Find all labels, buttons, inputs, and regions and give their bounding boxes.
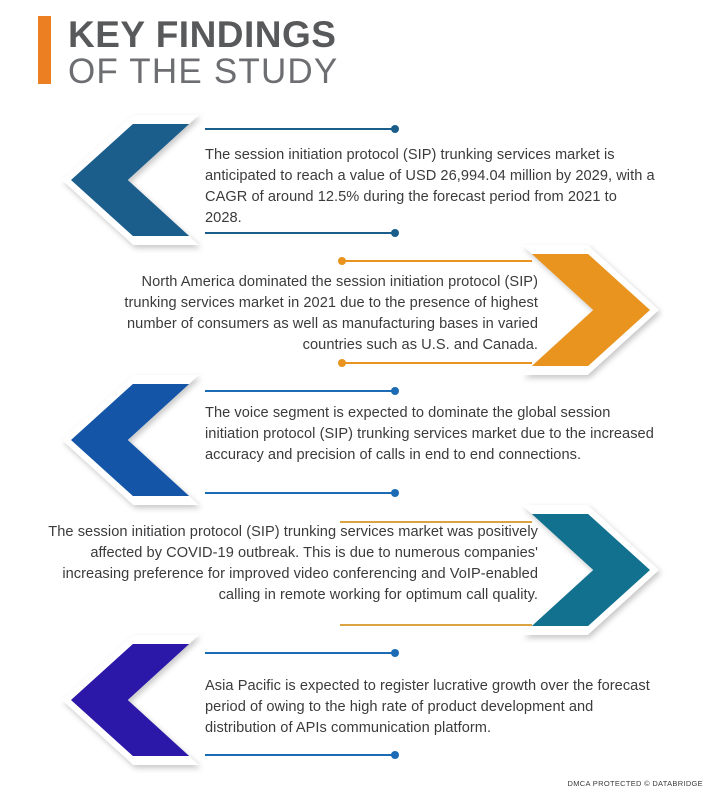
finding-row-inner: The session initiation protocol (SIP) tr… — [0, 115, 721, 245]
finding-row: The session initiation protocol (SIP) tr… — [0, 115, 721, 245]
connector-dot — [391, 751, 399, 759]
header-accent-bar — [38, 16, 51, 84]
chevron-outline — [522, 505, 659, 635]
connector-bar — [205, 390, 397, 392]
header-title-group: KEY FINDINGS OF THE STUDY — [68, 16, 338, 90]
connector-line-bottom — [340, 362, 532, 364]
finding-row: Asia Pacific is expected to register luc… — [0, 635, 721, 765]
finding-row-inner: North America dominated the session init… — [0, 245, 721, 375]
connector-dot — [391, 125, 399, 133]
connector-bar — [340, 624, 532, 626]
connector-line-top — [340, 260, 532, 262]
chevron-fill — [531, 514, 650, 626]
connector-line-top — [205, 652, 397, 654]
chevron-outline — [522, 245, 659, 375]
finding-row: North America dominated the session init… — [0, 245, 721, 375]
connector-line-bottom — [205, 754, 397, 756]
chevron-fill — [71, 644, 190, 756]
connector-dot — [391, 489, 399, 497]
page-header: KEY FINDINGS OF THE STUDY — [38, 16, 338, 90]
connector-dot — [338, 359, 346, 367]
connector-bar — [340, 260, 532, 262]
finding-text: The session initiation protocol (SIP) tr… — [38, 522, 538, 606]
chevron-right-icon — [522, 505, 659, 635]
connector-dot — [391, 387, 399, 395]
finding-text: Asia Pacific is expected to register luc… — [205, 676, 653, 739]
chevron-fill — [71, 384, 190, 496]
connector-bar — [340, 362, 532, 364]
connector-bar — [205, 754, 397, 756]
connector-bar — [205, 492, 397, 494]
finding-row-inner: The session initiation protocol (SIP) tr… — [0, 505, 721, 635]
finding-text: The session initiation protocol (SIP) tr… — [205, 145, 655, 229]
connector-line-top — [205, 390, 397, 392]
finding-text: North America dominated the session init… — [88, 272, 538, 356]
connector-dot — [391, 649, 399, 657]
connector-bar — [205, 232, 397, 234]
chevron-left-icon — [62, 115, 199, 245]
connector-dot — [338, 257, 346, 265]
chevron-fill — [531, 254, 650, 366]
finding-row: The session initiation protocol (SIP) tr… — [0, 505, 721, 635]
chevron-outline — [62, 115, 199, 245]
chevron-outline — [62, 375, 199, 505]
chevron-fill — [71, 124, 190, 236]
chevron-left-icon — [62, 635, 199, 765]
connector-bar — [205, 128, 397, 130]
page-subtitle: OF THE STUDY — [68, 54, 338, 90]
finding-row-inner: The voice segment is expected to dominat… — [0, 375, 721, 505]
connector-line-bottom — [205, 492, 397, 494]
chevron-left-icon — [62, 375, 199, 505]
page-title: KEY FINDINGS — [68, 16, 338, 54]
connector-line-top — [205, 128, 397, 130]
finding-row: The voice segment is expected to dominat… — [0, 375, 721, 505]
copyright-notice: DMCA PROTECTED © DATABRIDGE — [568, 779, 703, 788]
connector-bar — [205, 652, 397, 654]
finding-row-inner: Asia Pacific is expected to register luc… — [0, 635, 721, 765]
finding-text: The voice segment is expected to dominat… — [205, 403, 657, 466]
connector-line-bottom — [340, 624, 532, 626]
chevron-outline — [62, 635, 199, 765]
chevron-right-icon — [522, 245, 659, 375]
connector-line-bottom — [205, 232, 397, 234]
connector-dot — [391, 229, 399, 237]
